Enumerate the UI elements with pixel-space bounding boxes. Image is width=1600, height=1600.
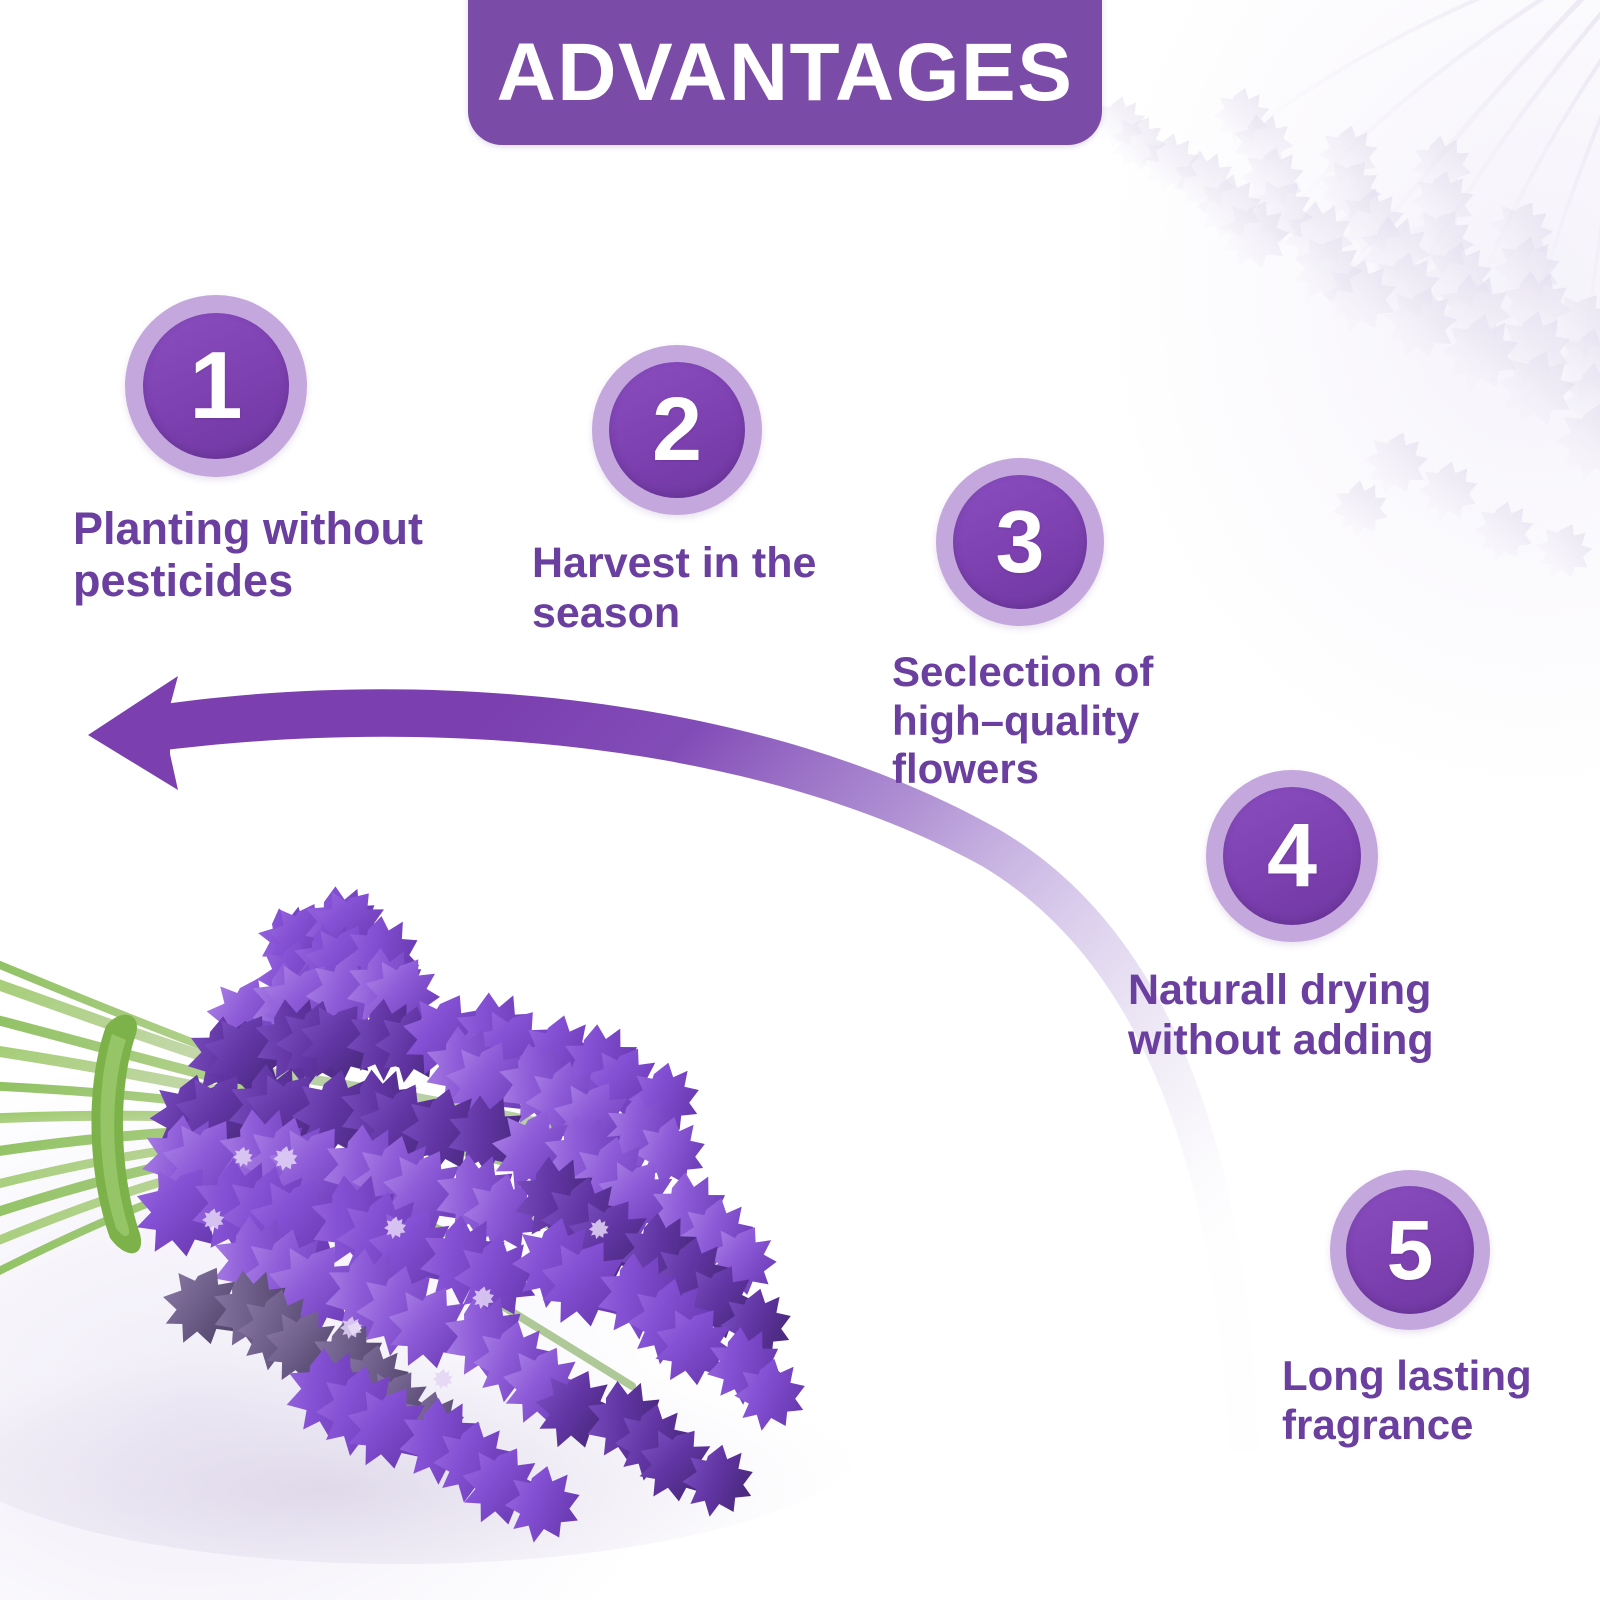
advantage-step-2: 2 Harvest in the season	[592, 345, 892, 639]
lavender-bouquet-image	[0, 820, 1100, 1600]
advantage-step-3: 3 Seclection of high–quality flowers	[936, 458, 1192, 794]
advantage-step-4: 4 Naturall drying without adding	[1206, 770, 1488, 1066]
step-badge-inner-5: 5	[1346, 1186, 1474, 1314]
step-label-5: Long lasting fragrance	[1282, 1352, 1582, 1449]
step-badge-1: 1	[125, 295, 307, 477]
arrow-shaft	[150, 689, 1258, 1452]
arrow-head	[88, 676, 178, 790]
step-label-2: Harvest in the season	[532, 539, 892, 639]
step-badge-inner-3: 3	[953, 475, 1087, 609]
step-badge-4: 4	[1206, 770, 1378, 942]
step-badge-3: 3	[936, 458, 1104, 626]
step-badge-inner-4: 4	[1223, 787, 1361, 925]
page-title: ADVANTAGES	[497, 18, 1074, 114]
advantage-step-5: 5 Long lasting fragrance	[1330, 1170, 1582, 1449]
title-banner: ADVANTAGES	[468, 0, 1102, 145]
step-label-1: Planting without pesticides	[73, 503, 493, 607]
step-number-5: 5	[1387, 1208, 1434, 1292]
step-number-3: 3	[996, 498, 1045, 586]
step-badge-2: 2	[592, 345, 762, 515]
advantages-infographic: ADVANTAGES	[0, 0, 1600, 1600]
step-badge-5: 5	[1330, 1170, 1490, 1330]
step-number-4: 4	[1267, 811, 1317, 901]
step-badge-inner-1: 1	[143, 313, 289, 459]
step-label-4: Naturall drying without adding	[1128, 966, 1488, 1066]
advantage-step-1: 1 Planting without pesticides	[125, 295, 493, 607]
step-badge-inner-2: 2	[609, 362, 745, 498]
step-label-3: Seclection of high–quality flowers	[892, 648, 1192, 794]
step-number-2: 2	[652, 385, 702, 475]
step-number-1: 1	[189, 338, 242, 434]
